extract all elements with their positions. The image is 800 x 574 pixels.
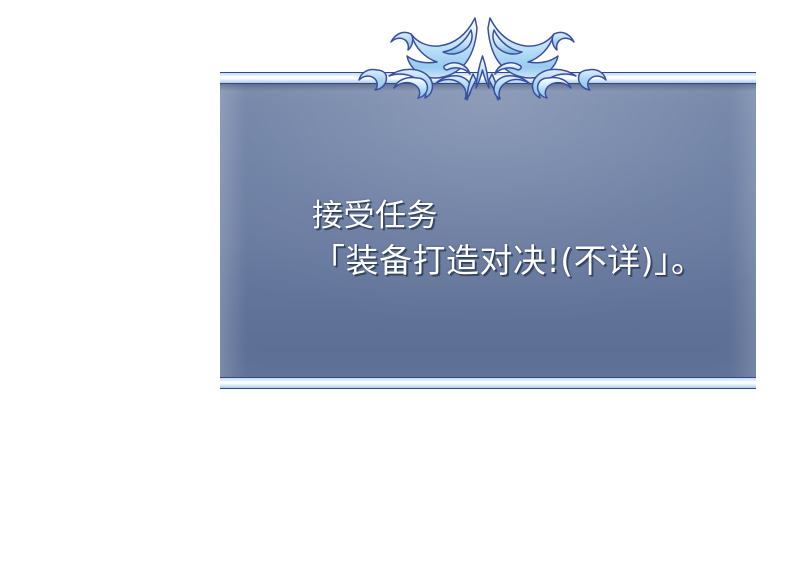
dialogue-line-1: 接受任务 <box>312 194 782 238</box>
dialogue-line-2: 「装备打造对决!(不详)」。 <box>312 238 782 284</box>
panel-top-rail <box>220 72 756 84</box>
scene-stage: 接受任务 「装备打造对决!(不详)」。 <box>0 0 800 574</box>
dialogue-panel: 接受任务 「装备打造对决!(不详)」。 <box>220 72 756 389</box>
dialogue-text-block: 接受任务 「装备打造对决!(不详)」。 <box>312 194 782 284</box>
panel-bottom-rail <box>220 377 756 389</box>
